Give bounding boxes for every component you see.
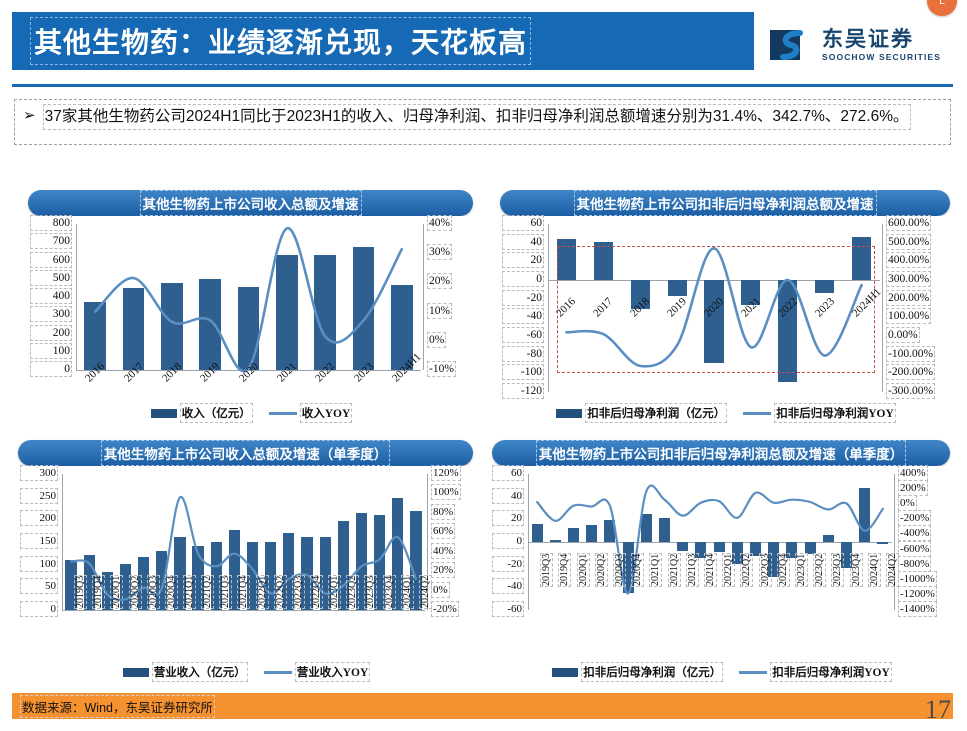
bar: [677, 542, 688, 551]
y-axis-tick-label: 400: [32, 290, 70, 302]
y-axis-tick-label: 300: [22, 467, 56, 479]
x-axis-tick-label: 2022Q3: [293, 576, 304, 608]
bar: [859, 488, 870, 542]
y-axis-tick-label: 100: [22, 558, 56, 570]
y2-axis-line: [423, 224, 424, 370]
chart-title-revenue-quarterly: 其他生物药上市公司收入总额及增速（单季度）: [18, 440, 473, 466]
y2-axis-tick-label: 100%: [433, 486, 459, 498]
summary-callout: ➢ 37家其他生物药公司2024H1同比于2023H1的收入、归母净利润、扣非归…: [14, 99, 951, 145]
y2-axis-tick-label: 100.00%: [888, 310, 929, 322]
bar: [84, 302, 105, 370]
y2-axis-tick-label: 0%: [433, 584, 448, 596]
y-axis-tick-label: 20: [504, 254, 542, 266]
legend-label: 扣非后归母净利润（亿元）: [587, 405, 725, 421]
x-axis-tick-label: 2020Q4: [632, 554, 643, 586]
y-axis-tick-label: 60: [504, 217, 542, 229]
chart-title-netprofit-annual: 其他生物药上市公司扣非后归母净利润总额及增速: [500, 190, 950, 216]
y-axis-tick-label: 200: [22, 512, 56, 524]
y-axis-tick-label: 0: [22, 603, 56, 615]
y2-axis-line: [882, 224, 883, 392]
x-axis-tick-label: 2023Q4: [384, 576, 395, 608]
bar: [568, 528, 579, 542]
y-axis-line: [76, 224, 77, 370]
legend-item: 收入（亿元）: [151, 405, 251, 421]
y2-axis-tick-label: -200%: [900, 512, 929, 524]
summary-text: 37家其他生物药公司2024H1同比于2023H1的收入、归母净利润、扣非归母净…: [45, 106, 909, 128]
x-axis-tick-label: 2024Q2: [420, 576, 431, 608]
y-axis-tick-label: -40: [494, 580, 522, 592]
y-axis-tick-label: 800: [32, 217, 70, 229]
chart-legend-netprofit-quarterly: 扣非后归母净利润（亿元）扣非后归母净利润YOY: [492, 664, 950, 680]
y2-axis-tick-label: -300.00%: [888, 385, 933, 397]
legend-bar-swatch: [552, 668, 578, 677]
x-axis-tick-label: 2023Q2: [814, 554, 825, 586]
bar: [550, 540, 561, 542]
y2-axis-tick-label: 200.00%: [888, 292, 929, 304]
x-axis-tick-label: 2023Q1: [796, 554, 807, 586]
x-axis-tick-label: 2022Q4: [778, 554, 789, 586]
legend-item: 营业收入（亿元）: [123, 664, 246, 680]
y2-axis-tick-label: -1200%: [900, 588, 935, 600]
x-axis-tick-label: 2019Q4: [93, 576, 104, 608]
x-axis-tick-label: 2020Q1: [578, 554, 589, 586]
legend-label: 收入（亿元）: [182, 405, 251, 421]
y-axis-tick-label: 0: [32, 363, 70, 375]
bar: [877, 542, 888, 544]
x-axis-tick-label: 2023Q2: [347, 576, 358, 608]
legend-item: 扣非后归母净利润（亿元）: [556, 405, 725, 421]
legend-line-swatch: [269, 412, 297, 415]
bar: [276, 255, 297, 370]
y2-axis-tick-label: 300.00%: [888, 273, 929, 285]
y-axis-tick-label: 600: [32, 254, 70, 266]
y2-axis-tick-label: 400.00%: [888, 254, 929, 266]
x-axis-tick-label: 2022Q1: [723, 554, 734, 586]
x-axis-tick-label: 2024Q1: [869, 554, 880, 586]
y2-axis-tick-label: -1400%: [900, 603, 935, 615]
x-axis-tick-label: 2022Q3: [760, 554, 771, 586]
x-axis-tick-label: 2023Q3: [365, 576, 376, 608]
x-axis-tick-label: 2021Q2: [669, 554, 680, 586]
y-axis-tick-label: 20: [494, 512, 522, 524]
x-axis-tick-label: 2023Q3: [832, 554, 843, 586]
x-axis-tick-label: 2021Q1: [184, 576, 195, 608]
x-axis-tick-label: 2022Q1: [257, 576, 268, 608]
y-axis-tick-label: 40: [494, 490, 522, 502]
legend-line-swatch: [264, 671, 292, 674]
logo-text-cn: 东吴证券: [822, 29, 941, 50]
y-axis-tick-label: -20: [504, 292, 542, 304]
x-axis-tick-label: 2024Q1: [402, 576, 413, 608]
chart-panel-revenue-annual: 其他生物药上市公司收入总额及增速 01002003004005006007008…: [28, 190, 473, 430]
y-axis-tick-label: 100: [32, 345, 70, 357]
x-axis-tick-label: 2021Q4: [705, 554, 716, 586]
y2-axis-tick-label: 0.00%: [888, 329, 918, 341]
y-axis-tick-label: 200: [32, 327, 70, 339]
legend-label: 扣非后归母净利润YOY: [776, 405, 894, 421]
legend-bar-swatch: [123, 668, 149, 677]
legend-item: 扣非后归母净利润YOY: [739, 664, 890, 680]
legend-label: 营业收入（亿元）: [154, 664, 246, 680]
y-axis-line: [548, 224, 549, 392]
x-axis-tick-label: 2019Q4: [559, 554, 570, 586]
y2-axis-tick-label: 200%: [900, 482, 926, 494]
page-title: 其他生物药：业绩逐渐兑现，天花板高: [34, 21, 527, 61]
bar: [805, 542, 816, 554]
bar: [604, 520, 615, 542]
y-axis-tick-label: -20: [494, 558, 522, 570]
bar: [586, 525, 597, 542]
x-axis-tick-label: 2020Q2: [130, 576, 141, 608]
x-axis-tick-label: 2021Q3: [687, 554, 698, 586]
y2-axis-tick-label: 40%: [429, 217, 450, 229]
chart-legend-revenue-quarterly: 营业收入（亿元）营业收入YOY: [18, 664, 473, 680]
chart-legend-revenue-annual: 收入（亿元）收入YOY: [28, 405, 473, 421]
soochow-logo-icon: [770, 26, 814, 64]
bar: [314, 255, 335, 370]
x-axis-tick-label: 2020Q2: [596, 554, 607, 586]
x-axis-tick-label: 2021Q1: [650, 554, 661, 586]
legend-bar-swatch: [151, 409, 177, 418]
y-axis-tick-label: 250: [22, 490, 56, 502]
legend-item: 收入YOY: [269, 405, 351, 421]
y-axis-line: [62, 474, 63, 610]
y2-axis-tick-label: -200.00%: [888, 366, 933, 378]
x-axis-tick-label: 2020Q1: [111, 576, 122, 608]
bullet-arrow-icon: ➢: [23, 106, 36, 126]
x-axis-tick-label: 2022Q2: [741, 554, 752, 586]
company-logo: 东吴证券 SOOCHOW SECURITIES: [770, 22, 950, 68]
x-axis-tick-label: 2020Q3: [148, 576, 159, 608]
chart-title-revenue-annual: 其他生物药上市公司收入总额及增速: [28, 190, 473, 216]
legend-label: 收入YOY: [302, 405, 351, 421]
y2-axis-tick-label: 30%: [429, 246, 450, 258]
x-axis-tick-label: 2023Q1: [329, 576, 340, 608]
y-axis-tick-label: 60: [494, 467, 522, 479]
x-axis-tick-label: 2019Q3: [75, 576, 86, 608]
y-axis-tick-label: 500: [32, 272, 70, 284]
header-divider: [12, 84, 953, 87]
legend-line-swatch: [743, 412, 771, 415]
y2-axis-tick-label: -10%: [429, 363, 454, 375]
bar: [123, 288, 144, 370]
y2-axis-tick-label: -20%: [433, 603, 457, 615]
chart-canvas-revenue-quarterly: 050100150200250300-20%0%20%40%60%80%100%…: [18, 466, 473, 688]
bar: [161, 283, 182, 370]
y-axis-tick-label: 0: [494, 535, 522, 547]
x-axis-line: [528, 542, 892, 543]
y2-axis-tick-label: 500.00%: [888, 236, 929, 248]
chart-canvas-revenue-annual: 0100200300400500600700800-10%0%10%20%30%…: [28, 216, 473, 428]
y-axis-tick-label: 40: [504, 236, 542, 248]
y-axis-tick-label: 150: [22, 535, 56, 547]
chart-panel-netprofit-annual: 其他生物药上市公司扣非后归母净利润总额及增速 -120-100-80-60-40…: [500, 190, 950, 430]
chart-title-netprofit-quarterly: 其他生物药上市公司扣非后归母净利润总额及增速（单季度）: [492, 440, 950, 466]
y2-axis-tick-label: 40%: [433, 545, 453, 557]
chart-canvas-netprofit-quarterly: -60-40-200204060-1400%-1200%-1000%-800%-…: [492, 466, 950, 688]
y2-axis-tick-label: -400%: [900, 527, 929, 539]
y2-axis-tick-label: -800%: [900, 558, 929, 570]
y2-axis-tick-label: -100.00%: [888, 348, 933, 360]
y2-axis-tick-label: 10%: [429, 305, 450, 317]
bar: [199, 279, 220, 370]
x-axis-line: [62, 610, 425, 611]
chart-panel-revenue-quarterly: 其他生物药上市公司收入总额及增速（单季度） 050100150200250300…: [18, 440, 473, 690]
legend-label: 营业收入YOY: [297, 664, 369, 680]
y-axis-tick-label: -60: [504, 329, 542, 341]
slide-title-bar: 其他生物药：业绩逐渐兑现，天花板高: [12, 12, 754, 70]
bar: [532, 524, 543, 542]
x-axis-tick-label: 2024Q2: [887, 554, 898, 586]
legend-item: 扣非后归母净利润（亿元）: [552, 664, 721, 680]
y-axis-tick-label: -100: [504, 366, 542, 378]
y-axis-tick-label: 300: [32, 308, 70, 320]
bar: [659, 518, 670, 542]
legend-bar-swatch: [556, 409, 582, 418]
x-axis-tick-label: 2020Q3: [614, 554, 625, 586]
x-axis-tick-label: 2023Q4: [851, 554, 862, 586]
legend-item: 营业收入YOY: [264, 664, 369, 680]
x-axis-tick-label: 2021Q3: [220, 576, 231, 608]
data-source-text: 数据来源：Wind，东吴证券研究所: [22, 697, 213, 716]
y-axis-tick-label: -80: [504, 348, 542, 360]
y-axis-tick-label: -40: [504, 310, 542, 322]
x-axis-tick-label: 2021Q4: [238, 576, 249, 608]
y-axis-tick-label: 700: [32, 235, 70, 247]
bar: [823, 535, 834, 542]
y-axis-tick-label: 50: [22, 580, 56, 592]
y2-axis-tick-label: 600.00%: [888, 217, 929, 229]
y2-axis-tick-label: -600%: [900, 543, 929, 555]
y-axis-tick-label: 0: [504, 273, 542, 285]
y-axis-tick-label: -60: [494, 603, 522, 615]
footer-bar: 数据来源：Wind，东吴证券研究所: [12, 693, 953, 719]
chart-canvas-netprofit-annual: -120-100-80-60-40-200204060-300.00%-200.…: [500, 216, 950, 428]
x-axis-tick-label: 2022Q2: [275, 576, 286, 608]
y2-axis-tick-label: 120%: [433, 467, 459, 479]
legend-item: 扣非后归母净利润YOY: [743, 405, 894, 421]
legend-label: 扣非后归母净利润YOY: [772, 664, 890, 680]
x-axis-tick-label: 2020Q4: [166, 576, 177, 608]
x-axis-tick-label: 2019Q3: [541, 554, 552, 586]
y2-axis-tick-label: 20%: [429, 275, 450, 287]
legend-line-swatch: [739, 671, 767, 674]
chart-panel-netprofit-quarterly: 其他生物药上市公司扣非后归母净利润总额及增速（单季度） -60-40-20020…: [492, 440, 950, 690]
y-axis-tick-label: -120: [504, 385, 542, 397]
bar: [238, 287, 259, 370]
y2-axis-tick-label: 20%: [433, 564, 453, 576]
bar: [353, 247, 374, 370]
chart-legend-netprofit-annual: 扣非后归母净利润（亿元）扣非后归母净利润YOY: [500, 405, 950, 421]
page-number: 17: [925, 695, 951, 725]
x-axis-tick-label: 2021Q2: [202, 576, 213, 608]
slide: 其他生物药：业绩逐渐兑现，天花板高 东吴证券 SOOCHOW SECURITIE…: [0, 0, 967, 731]
y2-axis-tick-label: 80%: [433, 506, 453, 518]
y2-axis-tick-label: 400%: [900, 467, 926, 479]
bar: [641, 514, 652, 542]
legend-label: 扣非后归母净利润（亿元）: [583, 664, 721, 680]
y2-axis-tick-label: -1000%: [900, 573, 935, 585]
logo-text-en: SOOCHOW SECURITIES: [822, 53, 941, 62]
y2-axis-line: [894, 474, 895, 610]
y2-axis-tick-label: 60%: [433, 525, 453, 537]
bar: [714, 542, 725, 552]
y2-axis-tick-label: 0%: [429, 334, 444, 346]
x-axis-tick-label: 2022Q4: [311, 576, 322, 608]
y2-axis-tick-label: 0%: [900, 497, 915, 509]
